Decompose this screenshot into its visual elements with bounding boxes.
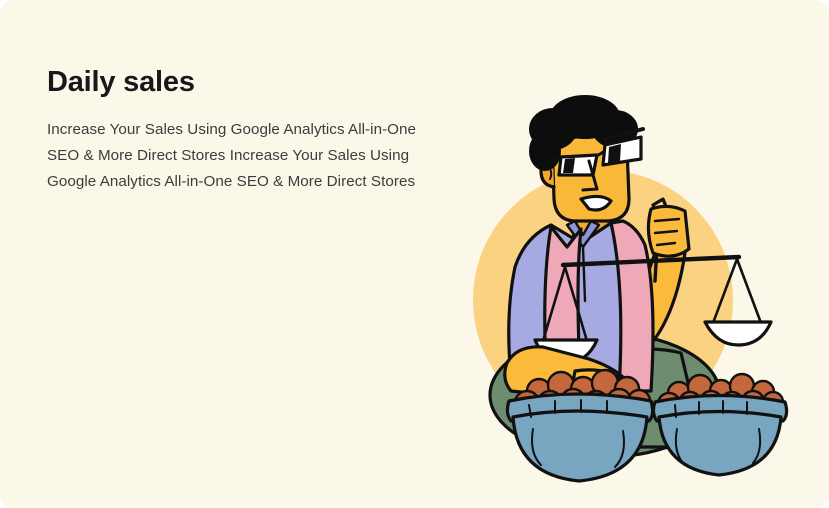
merchant-weighing-fruit-illustration: [455, 95, 815, 485]
scale-cord-right-b: [737, 259, 761, 323]
text-block: Daily sales Increase Your Sales Using Go…: [47, 64, 457, 195]
bowl-body-right: [659, 412, 781, 476]
bowl-right: [653, 374, 786, 475]
bowl-left: [507, 370, 652, 481]
right-hand: [648, 206, 689, 256]
pupil-right: [608, 144, 621, 163]
page-description: Increase Your Sales Using Google Analyti…: [47, 117, 451, 195]
daily-sales-card: Daily sales Increase Your Sales Using Go…: [0, 0, 829, 508]
page-title: Daily sales: [47, 64, 457, 100]
